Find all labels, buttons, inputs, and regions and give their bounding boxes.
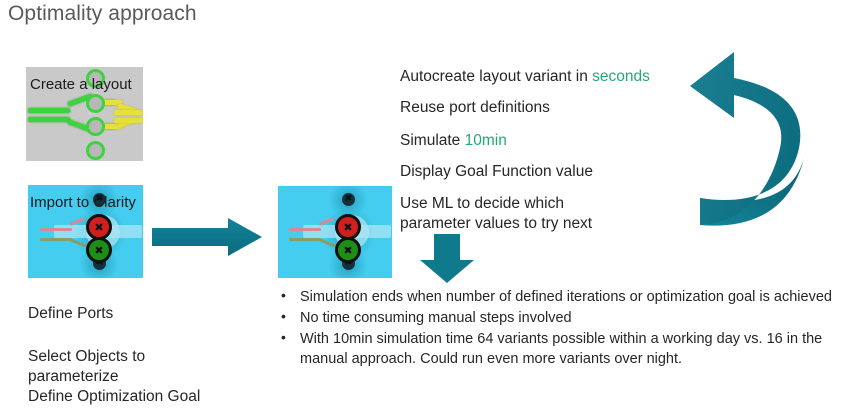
port-dot-top: ✖ (93, 193, 106, 206)
step-line-use-ml: Use ML to decide which parameter values … (400, 194, 630, 235)
label-select-objects: Select Objects to parameterize Define Op… (28, 347, 228, 407)
port-ring-top (86, 69, 105, 88)
arrow-right-icon (152, 216, 264, 258)
clarity-figure: ✖ ✖ ✖ ✖ (278, 186, 392, 278)
list-item: With 10min simulation time 64 variants p… (276, 329, 856, 369)
page-title: Optimality approach (8, 2, 197, 26)
arrow-down-icon (418, 234, 476, 284)
step-line-goal-function: Display Goal Function value (400, 163, 593, 181)
layout-figure (26, 67, 143, 161)
port-ring-lower (86, 117, 105, 136)
list-item: Simulation ends when number of defined i… (276, 287, 856, 307)
step-line-simulate-text: Simulate (400, 132, 465, 149)
slide-canvas: Optimality approach Create a layout (0, 0, 867, 412)
step-line-simulate: Simulate 10min (400, 132, 507, 150)
step-line-reuse-ports: Reuse port definitions (400, 99, 550, 117)
step-line-autocreate-highlight: seconds (592, 68, 650, 85)
port-dot-green: ✖ (86, 237, 112, 263)
list-item: No time consuming manual steps involved (276, 308, 856, 328)
port-ring-upper (86, 94, 105, 113)
step-line-autocreate: Autocreate layout variant in seconds (400, 68, 650, 86)
port-ring-bottom (86, 141, 105, 160)
import-figure: ✖ ✖ ✖ ✖ (28, 185, 143, 278)
curved-loop-arrow-icon (686, 48, 866, 258)
step-line-autocreate-text: Autocreate layout variant in (400, 68, 592, 85)
label-define-optimization-goal: Define Optimization Goal (28, 387, 228, 407)
label-select-objects-line2: parameterize (28, 367, 228, 387)
bullet-list: Simulation ends when number of defined i… (276, 287, 856, 370)
step-line-simulate-highlight: 10min (465, 132, 507, 149)
label-select-objects-line1: Select Objects to (28, 347, 228, 367)
port-dot-green: ✖ (335, 237, 361, 263)
port-dot-top: ✖ (342, 193, 355, 206)
label-define-ports: Define Ports (28, 305, 113, 323)
